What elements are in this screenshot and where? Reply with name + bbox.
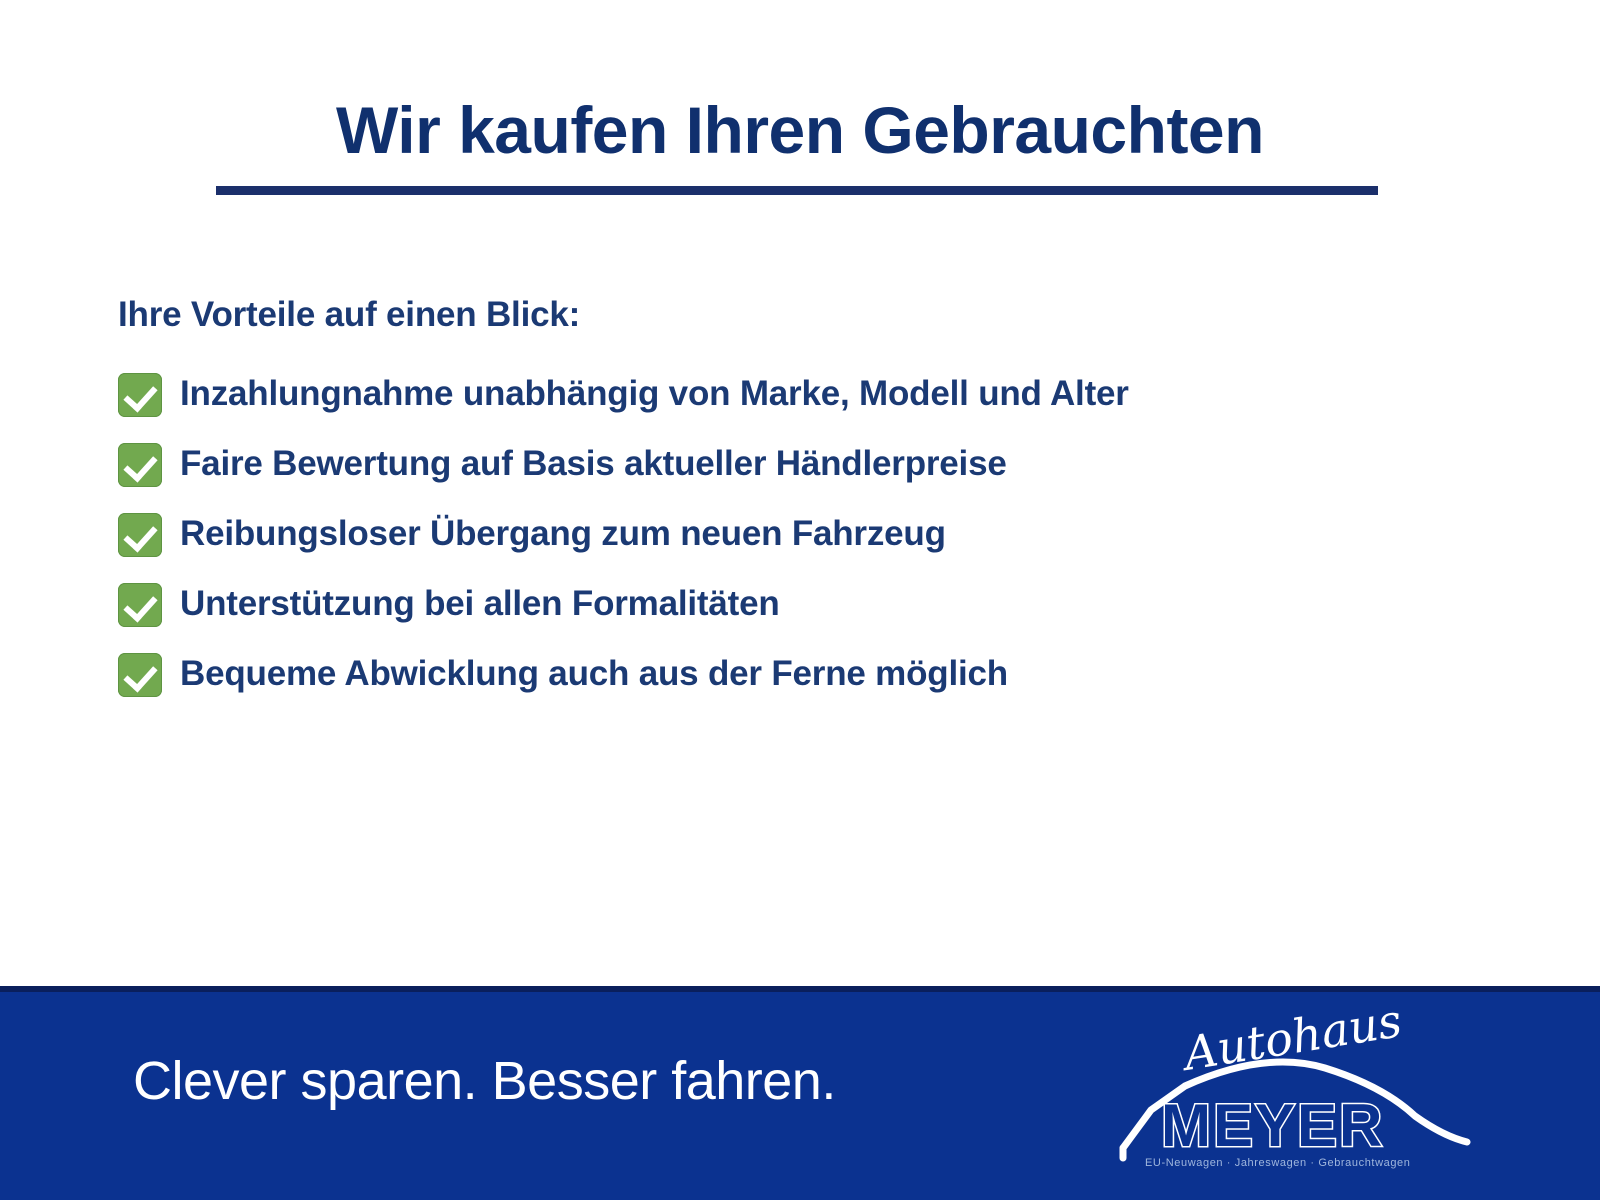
check-box-icon	[118, 373, 162, 417]
check-box-icon	[118, 583, 162, 627]
list-item-label: Faire Bewertung auf Basis aktueller Händ…	[180, 445, 1007, 484]
logo-script-text: Autohaus	[1176, 1006, 1405, 1081]
list-item: Reibungsloser Übergang zum neuen Fahrzeu…	[118, 509, 1518, 561]
list-item: Bequeme Abwicklung auch aus der Ferne mö…	[118, 649, 1518, 701]
benefits-heading: Ihre Vorteile auf einen Blick:	[118, 296, 1518, 335]
check-box-icon	[118, 653, 162, 697]
list-item: Unterstützung bei allen Formalitäten	[118, 579, 1518, 631]
list-item-label: Reibungsloser Übergang zum neuen Fahrzeu…	[180, 515, 946, 554]
footer-band: Clever sparen. Besser fahren. Autohaus M…	[0, 986, 1600, 1200]
footer-slogan: Clever sparen. Besser fahren.	[133, 1050, 836, 1112]
check-box-icon	[118, 513, 162, 557]
benefits-section: Ihre Vorteile auf einen Blick: Inzahlung…	[118, 296, 1518, 719]
list-item-label: Unterstützung bei allen Formalitäten	[180, 585, 780, 624]
logo-subtitle-text: EU-Neuwagen · Jahreswagen · Gebrauchtwag…	[1145, 1157, 1411, 1169]
page-title: Wir kaufen Ihren Gebrauchten	[336, 96, 1264, 175]
title-underline-rule	[216, 186, 1378, 195]
promo-banner: Wir kaufen Ihren Gebrauchten Ihre Vortei…	[0, 0, 1600, 1200]
check-box-icon	[118, 443, 162, 487]
page-title-container: Wir kaufen Ihren Gebrauchten	[0, 96, 1600, 175]
logo-word-text: MEYER	[1161, 1092, 1384, 1159]
list-item-label: Bequeme Abwicklung auch aus der Ferne mö…	[180, 655, 1008, 694]
dealer-logo: Autohaus MEYER EU-Neuwagen · Jahreswagen…	[1115, 1006, 1475, 1181]
list-item: Inzahlungnahme unabhängig von Marke, Mod…	[118, 369, 1518, 421]
list-item-label: Inzahlungnahme unabhängig von Marke, Mod…	[180, 375, 1129, 414]
list-item: Faire Bewertung auf Basis aktueller Händ…	[118, 439, 1518, 491]
